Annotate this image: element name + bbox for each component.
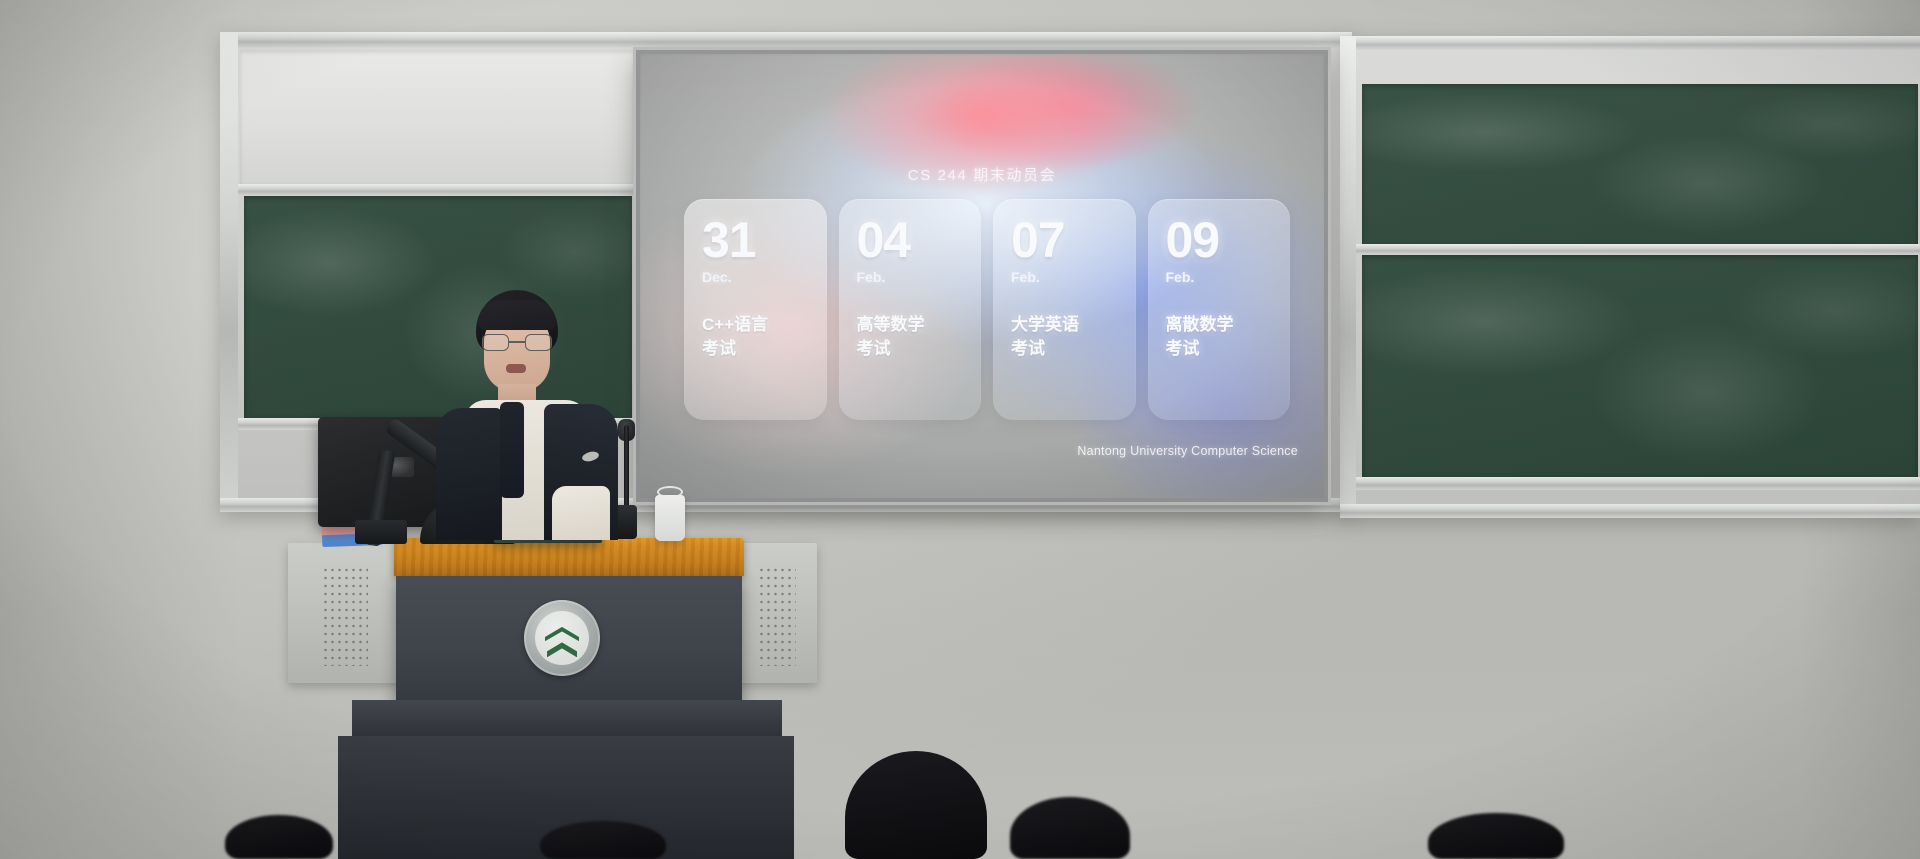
eyeglass-bridge	[509, 341, 525, 343]
presenter-mouth	[506, 364, 526, 373]
card-month-label: Feb.	[857, 269, 966, 285]
card-subject-line2: 考试	[702, 337, 815, 361]
board-frame-top	[220, 32, 1352, 48]
microphone-base	[615, 505, 637, 539]
board-frame-bottom-right	[1340, 504, 1920, 518]
exam-date-card: 31 Dec. C++语言 考试	[684, 199, 827, 420]
slide-content: CS 244 期末动员会 31 Dec. C++语言 考试 04 Feb.	[640, 54, 1324, 498]
card-subject-label: 大学英语 考试	[1011, 313, 1124, 361]
emblem-inner-disc	[535, 611, 589, 665]
podium-speaker-grille-right	[758, 566, 796, 666]
podium-speaker-grille-left	[322, 566, 368, 666]
exam-date-card-list: 31 Dec. C++语言 考试 04 Feb. 高等数学 考试	[684, 199, 1290, 420]
water-bottle	[655, 495, 685, 541]
board-frame-top-right	[1340, 36, 1920, 50]
presenter-sleeve	[552, 486, 610, 540]
card-subject-line1: C++语言	[702, 313, 815, 337]
card-day-number: 31	[702, 217, 811, 264]
projection-screen: CS 244 期末动员会 31 Dec. C++语言 考试 04 Feb.	[636, 50, 1328, 502]
emblem-chevron-icon-lower	[547, 642, 577, 657]
eyeglass-lens-right	[525, 334, 552, 351]
card-subject-line1: 离散数学	[1166, 313, 1279, 337]
exam-date-card: 07 Feb. 大学英语 考试	[993, 199, 1136, 420]
card-subject-line2: 考试	[1011, 337, 1124, 361]
card-month-label: Feb.	[1166, 269, 1275, 285]
presentation-slide: CS 244 期末动员会 31 Dec. C++语言 考试 04 Feb.	[640, 54, 1324, 498]
eyeglass-lens-left	[482, 334, 509, 351]
podium-base	[352, 700, 782, 740]
card-subject-label: 高等数学 考试	[857, 313, 970, 361]
exam-date-card: 04 Feb. 高等数学 考试	[839, 199, 982, 420]
slide-footer-credit: Nantong University Computer Science	[1077, 444, 1298, 458]
card-subject-line1: 大学英语	[1011, 313, 1124, 337]
lecture-hall-photo: CS 244 期末动员会 31 Dec. C++语言 考试 04 Feb.	[0, 0, 1920, 859]
board-divider-rail-right	[1356, 244, 1920, 255]
chalkboard-panel-right-upper	[1362, 84, 1918, 244]
card-day-number: 04	[857, 217, 966, 264]
board-chalk-tray-right	[1356, 477, 1920, 490]
card-month-label: Feb.	[1011, 269, 1120, 285]
card-month-label: Dec.	[702, 269, 811, 285]
eyeglasses-icon	[482, 334, 552, 351]
slide-title: CS 244 期末动员会	[640, 164, 1324, 185]
card-subject-label: C++语言 考试	[702, 313, 815, 361]
whiteboard-panel-upper	[240, 50, 634, 184]
exam-date-card: 09 Feb. 离散数学 考试	[1148, 199, 1291, 420]
university-emblem	[524, 600, 600, 676]
sliding-board-assembly-right	[1340, 36, 1920, 518]
presenter-scarf	[500, 402, 524, 498]
monitor-base	[355, 520, 407, 544]
presenter	[432, 290, 618, 540]
card-subject-line1: 高等数学	[857, 313, 970, 337]
presenter-jacket-left	[436, 408, 502, 540]
card-day-number: 07	[1011, 217, 1120, 264]
presenter-fringe	[478, 300, 556, 330]
card-subject-line2: 考试	[857, 337, 970, 361]
board-frame-left-right	[1340, 36, 1356, 518]
card-subject-label: 离散数学 考试	[1166, 313, 1279, 361]
chalkboard-panel-right-lower	[1362, 255, 1918, 477]
card-subject-line2: 考试	[1166, 337, 1279, 361]
board-divider-rail	[238, 184, 636, 196]
card-day-number: 09	[1166, 217, 1275, 264]
board-frame-left	[220, 32, 238, 512]
